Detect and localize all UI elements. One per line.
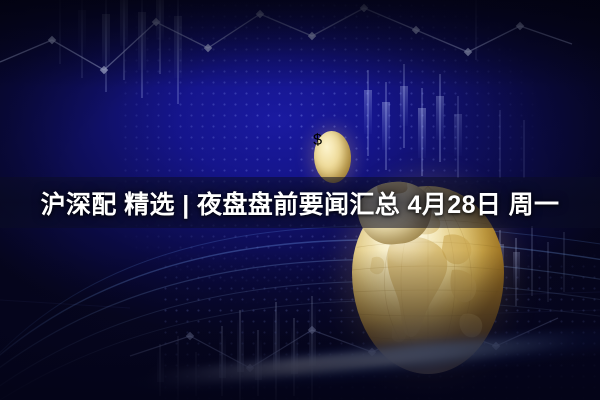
banner-image: $ $ 沪深配 精选 | 夜盘盘前要闻汇总 4月28日 周一 [0,0,600,400]
bottom-darken-overlay [0,250,600,400]
headline-band: 沪深配 精选 | 夜盘盘前要闻汇总 4月28日 周一 [0,177,600,228]
headline-text: 沪深配 精选 | 夜盘盘前要闻汇总 4月28日 周一 [0,185,600,221]
